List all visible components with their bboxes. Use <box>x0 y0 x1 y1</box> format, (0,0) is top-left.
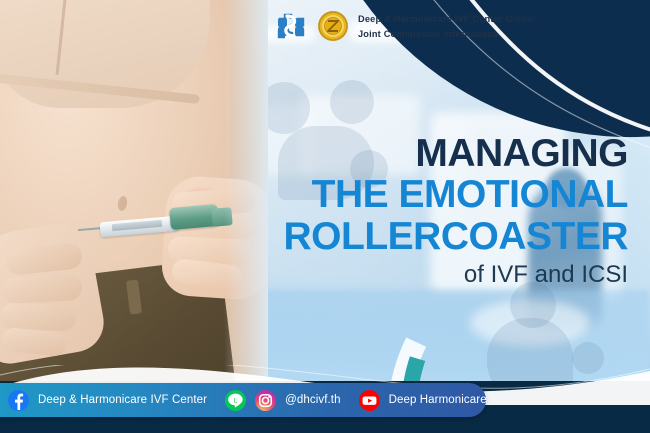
instagram-label[interactable]: @dhcivf.th <box>285 394 341 406</box>
headline-line-3: ROLLERCOASTER <box>284 216 629 257</box>
facebook-icon[interactable] <box>8 390 29 411</box>
promotional-banner: Deep & Harmonicare IVF Center Global Joi… <box>0 0 650 433</box>
headline-line-2: THE EMOTIONAL <box>284 174 629 215</box>
svg-text:L: L <box>234 397 238 404</box>
headline-line-1: MANAGING <box>284 133 629 174</box>
headline-subtitle: of IVF and ICSI <box>284 262 629 287</box>
gold-medal-icon <box>317 10 349 42</box>
patient-injection-photo <box>0 0 268 400</box>
brand-header: Deep & Harmonicare IVF Center Global Joi… <box>274 10 535 42</box>
header-line-1: Deep & Harmonicare IVF Center Global <box>358 14 535 24</box>
youtube-label[interactable]: Deep Harmonicare <box>389 394 487 406</box>
facebook-label[interactable]: Deep & Harmonicare IVF Center <box>38 394 207 406</box>
header-line-2: Joint Commission Internationa <box>358 29 535 39</box>
headline-block: MANAGING THE EMOTIONAL ROLLERCOASTER of … <box>284 133 629 287</box>
social-links-bar: Deep & Harmonicare IVF Center L @dhcivf.… <box>0 383 486 417</box>
instagram-icon[interactable] <box>255 390 276 411</box>
clover-cross-logo-icon <box>274 10 308 42</box>
line-icon[interactable]: L <box>225 390 246 411</box>
youtube-icon[interactable] <box>359 390 380 411</box>
